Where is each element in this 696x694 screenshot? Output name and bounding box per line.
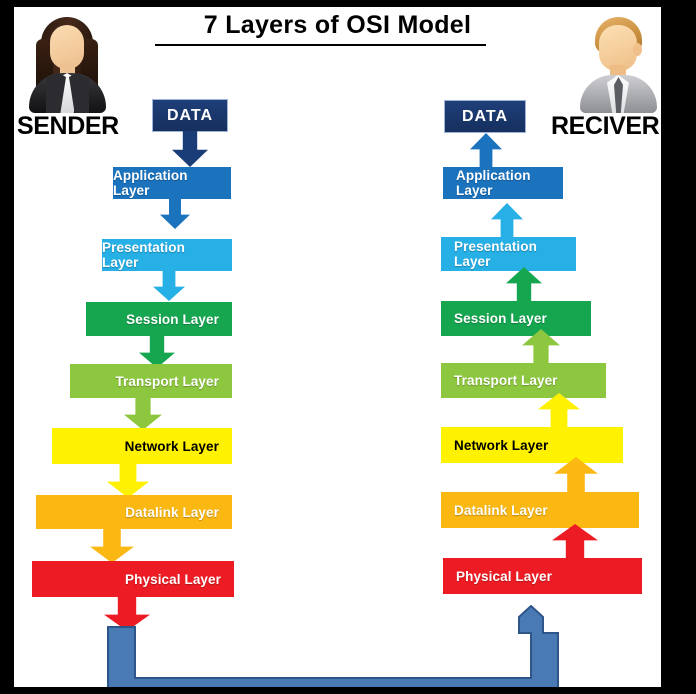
receiver-layer-datalink-layer[interactable]: Datalink Layer	[441, 492, 639, 528]
sender-layer-physical-layer[interactable]: Physical Layer	[32, 561, 234, 597]
sender-arrow-datalink-layer	[90, 529, 134, 563]
title-underline	[155, 44, 486, 46]
ear-shape	[633, 43, 642, 56]
sender-layer-session-layer[interactable]: Session Layer	[86, 302, 232, 336]
layer-label: Session Layer	[126, 312, 219, 327]
layer-label: Session Layer	[454, 311, 547, 326]
sender-arrow-application-layer	[160, 199, 190, 229]
layer-label: Transport Layer	[115, 374, 219, 389]
layer-label: Network Layer	[454, 438, 548, 453]
sender-layer-transport-layer[interactable]: Transport Layer	[70, 364, 232, 398]
receiver-arrow-network-layer	[538, 393, 580, 427]
receiver-layer-session-layer[interactable]: Session Layer	[441, 301, 591, 336]
receiver-layer-network-layer[interactable]: Network Layer	[441, 427, 623, 463]
layer-label: Network Layer	[125, 439, 219, 454]
layer-label: Datalink Layer	[454, 503, 548, 518]
diagram-frame: 7 Layers of OSI Model SENDER RECIVER	[0, 0, 696, 694]
receiver-arrow-presentation-layer	[491, 203, 523, 237]
receiver-layer-presentation-layer[interactable]: Presentation Layer	[441, 237, 576, 271]
receiver-label: RECIVER	[551, 112, 659, 141]
sender-layer-application-layer[interactable]: Application Layer	[113, 167, 231, 199]
receiver-layer-physical-layer[interactable]: Physical Layer	[443, 558, 642, 594]
sender-arrow-presentation-layer	[153, 271, 185, 301]
layer-label: Transport Layer	[454, 373, 558, 388]
page-title: 7 Layers of OSI Model	[14, 11, 661, 40]
transmission-medium	[107, 605, 559, 687]
sender-layer-datalink-layer[interactable]: Datalink Layer	[36, 495, 232, 529]
receiver-layer-transport-layer[interactable]: Transport Layer	[441, 363, 606, 398]
sender-arrow-network-layer	[107, 464, 149, 498]
layer-label: Physical Layer	[125, 572, 221, 587]
layer-label: Presentation Layer	[454, 239, 576, 269]
receiver-arrow-session-layer	[506, 267, 542, 301]
sender-layer-presentation-layer[interactable]: Presentation Layer	[102, 239, 232, 271]
sender-layer-network-layer[interactable]: Network Layer	[52, 428, 232, 464]
layer-label: Presentation Layer	[102, 240, 219, 270]
layer-label: Application Layer	[113, 168, 218, 198]
sender-arrow-data	[172, 131, 208, 167]
sender-avatar	[24, 15, 110, 111]
receiver-arrow-data	[470, 133, 502, 167]
sender-arrow-transport-layer	[124, 398, 162, 430]
layer-label: Application Layer	[456, 168, 563, 198]
receiver-avatar	[575, 15, 661, 111]
diagram-canvas: 7 Layers of OSI Model SENDER RECIVER	[14, 7, 661, 687]
receiver-arrow-physical-layer	[552, 524, 598, 558]
receiver-layer-application-layer[interactable]: Application Layer	[443, 167, 563, 199]
receiver-data-box: DATA	[444, 100, 526, 133]
layer-label: Datalink Layer	[125, 505, 219, 520]
sender-data-box: DATA	[152, 99, 228, 132]
layer-label: Physical Layer	[456, 569, 552, 584]
sender-label: SENDER	[17, 112, 119, 141]
